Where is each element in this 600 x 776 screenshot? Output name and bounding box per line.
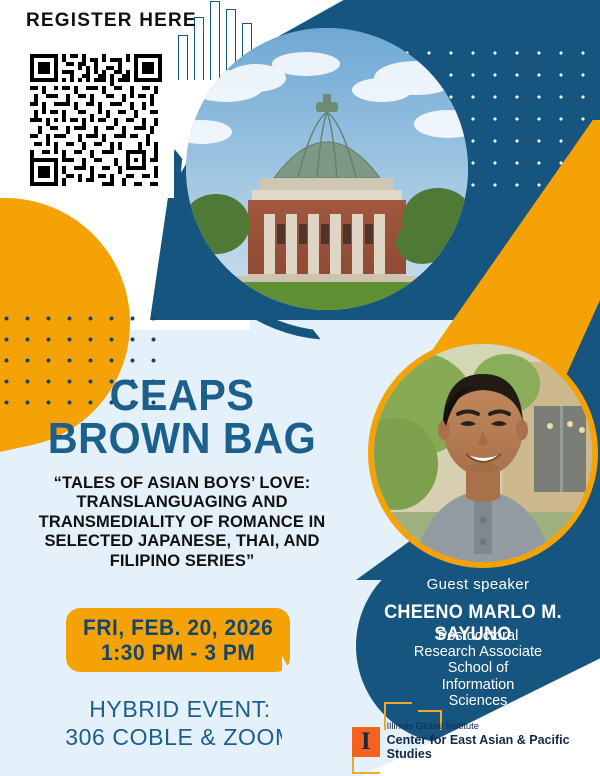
register-here-label: REGISTER HERE <box>26 10 197 32</box>
event-poster: REGISTER HERE <box>0 0 600 776</box>
talk-subtitle: “TALES OF ASIAN BOYS’ LOVE: TRANSLANGUAG… <box>14 474 350 571</box>
title-line-2: BROWN BAG <box>22 417 342 460</box>
logo-text: Illinois Global Institute Center for Eas… <box>387 722 600 762</box>
event-time: 1:30 PM - 3 PM <box>101 640 255 665</box>
event-date: FRI, FEB. 20, 2026 <box>83 615 273 640</box>
logo-i-letter: I <box>361 729 371 754</box>
title-line-1: CEAPS <box>22 374 342 417</box>
qr-code[interactable] <box>26 50 174 198</box>
speaker-portrait <box>368 338 598 568</box>
guest-speaker-kicker: Guest speaker <box>356 576 600 593</box>
page-title: CEAPS BROWN BAG <box>12 374 352 460</box>
logo-center-name: Center for East Asian & Pacific Studies <box>387 733 600 762</box>
logo-institute-name: Illinois Global Institute <box>387 722 600 733</box>
event-date-badge: FRI, FEB. 20, 2026 1:30 PM - 3 PM <box>66 608 290 672</box>
illinois-block-i-icon: I <box>352 727 380 757</box>
illinois-logo: I Illinois Global Institute Center for E… <box>352 722 600 762</box>
speaker-affiliation: Postdoctoral Research Associate School o… <box>356 628 600 709</box>
